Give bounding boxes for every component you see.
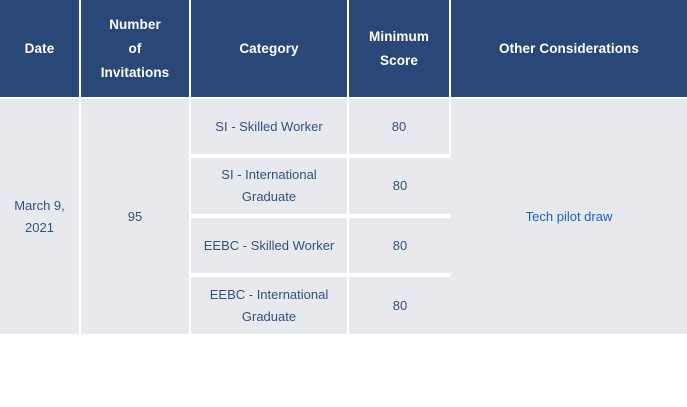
cell-other-considerations: Tech pilot draw: [451, 97, 687, 334]
cell-category: EEBC - International Graduate: [191, 275, 349, 334]
cell-minimum-score: 80: [349, 275, 451, 334]
cell-category: SI - International Graduate: [191, 156, 349, 216]
header-label-of: of: [129, 41, 142, 56]
cell-category: SI - Skilled Worker: [191, 97, 349, 156]
cell-minimum-score: 80: [349, 156, 451, 216]
immigration-draw-table: Date Number of Invitations Category Mini…: [0, 0, 687, 334]
column-header-other-considerations: Other Considerations: [451, 0, 687, 97]
cell-category: EEBC - Skilled Worker: [191, 216, 349, 275]
column-header-category: Category: [191, 0, 349, 97]
header-row: Date Number of Invitations Category Mini…: [0, 0, 687, 97]
header-label-score: Score: [380, 53, 418, 68]
cell-number-of-invitations: 95: [81, 97, 191, 334]
header-label-invitations: Invitations: [101, 65, 170, 80]
table-body: March 9, 2021 95 SI - Skilled Worker 80 …: [0, 97, 687, 334]
cell-minimum-score: 80: [349, 97, 451, 156]
header-label-category: Category: [239, 41, 298, 56]
tech-pilot-draw-link[interactable]: Tech pilot draw: [526, 209, 613, 224]
column-header-date: Date: [0, 0, 81, 97]
table-header: Date Number of Invitations Category Mini…: [0, 0, 687, 97]
table-row: March 9, 2021 95 SI - Skilled Worker 80 …: [0, 97, 687, 156]
header-label-minimum: Minimum: [369, 29, 429, 44]
cell-minimum-score: 80: [349, 216, 451, 275]
column-header-minimum-score: Minimum Score: [349, 0, 451, 97]
column-header-number-of-invitations: Number of Invitations: [81, 0, 191, 97]
header-label-date: Date: [25, 41, 55, 56]
cell-date: March 9, 2021: [0, 97, 81, 334]
header-label-number: Number: [109, 17, 161, 32]
header-label-other-considerations: Other Considerations: [499, 41, 639, 56]
